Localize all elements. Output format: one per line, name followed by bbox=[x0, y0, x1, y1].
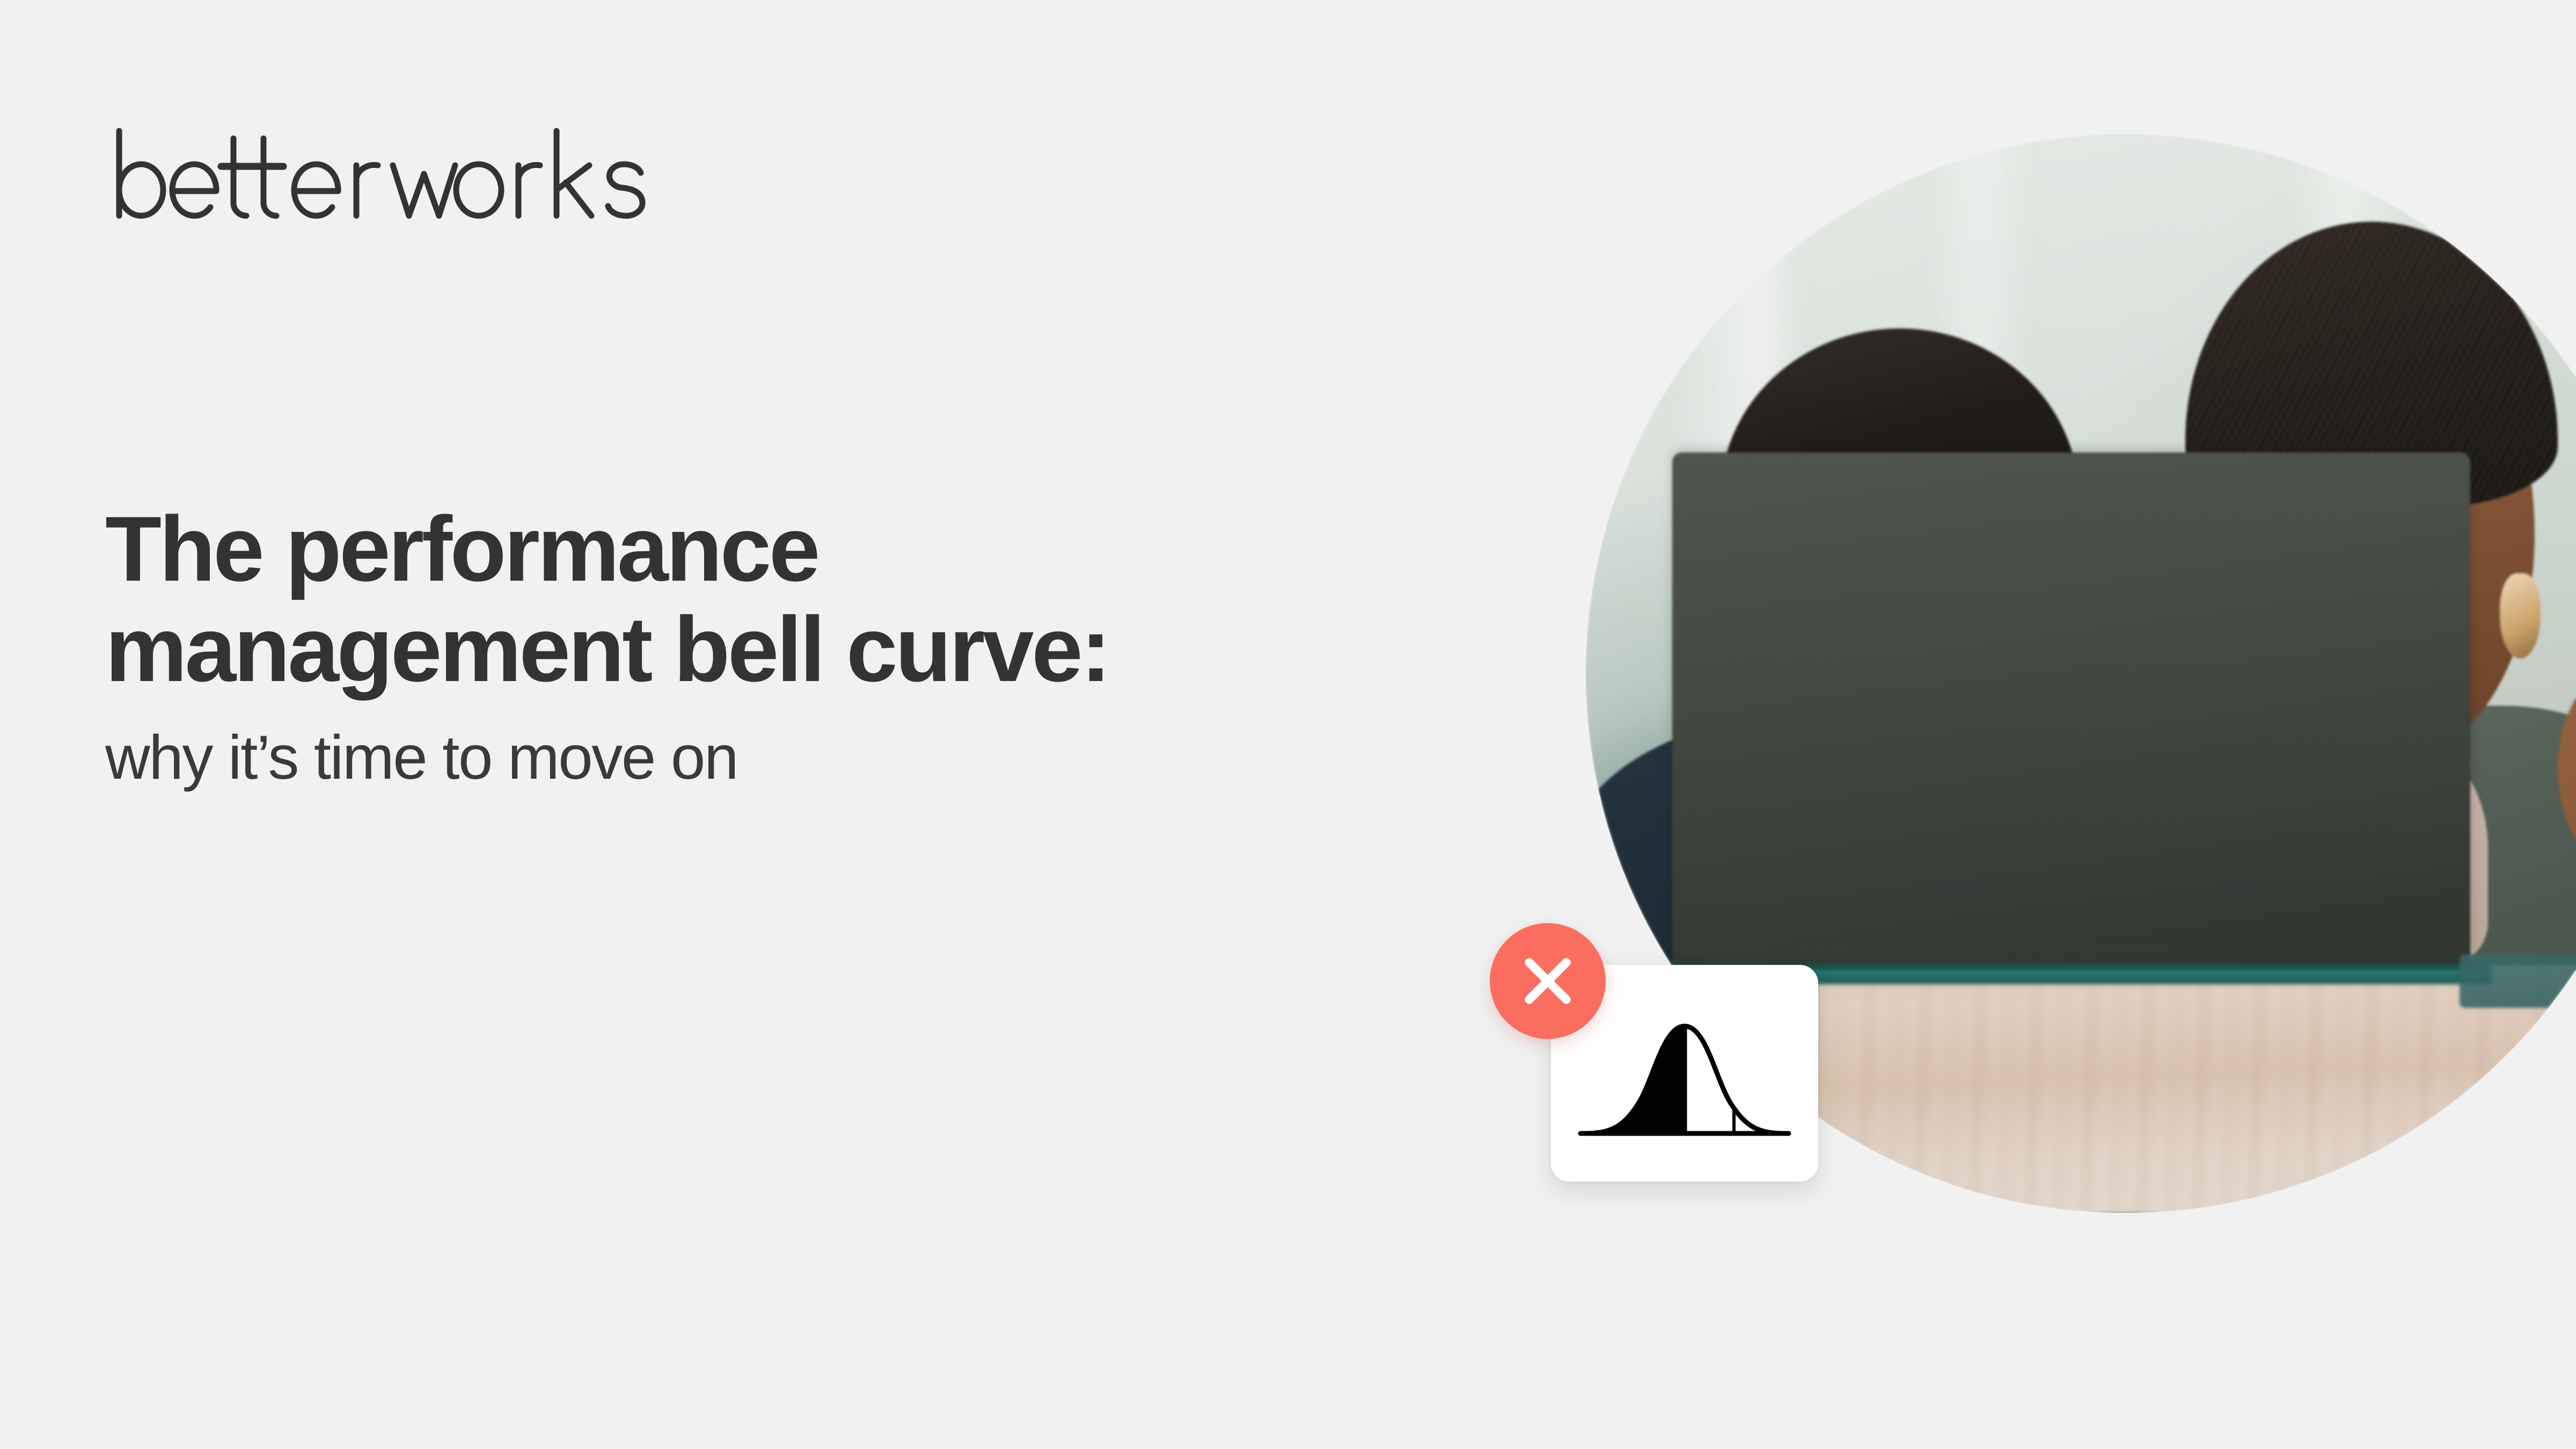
page-title: The performance management bell curve: bbox=[105, 499, 1511, 699]
x-close-icon bbox=[1519, 952, 1577, 1010]
rejected-badge[interactable] bbox=[1490, 923, 1606, 1039]
page-subtitle: why it’s time to move on bbox=[105, 723, 1511, 793]
betterworks-logo[interactable] bbox=[103, 122, 704, 224]
earring-icon bbox=[2500, 573, 2541, 658]
bell-curve-icon bbox=[1572, 993, 1797, 1154]
betterworks-wordmark-icon bbox=[103, 122, 704, 224]
hero-banner: The performance management bell curve: w… bbox=[0, 0, 2576, 1449]
laptop-screen bbox=[1672, 452, 2470, 970]
hero-text-block: The performance management bell curve: w… bbox=[105, 499, 1511, 793]
phone-on-desk bbox=[2460, 954, 2576, 1008]
